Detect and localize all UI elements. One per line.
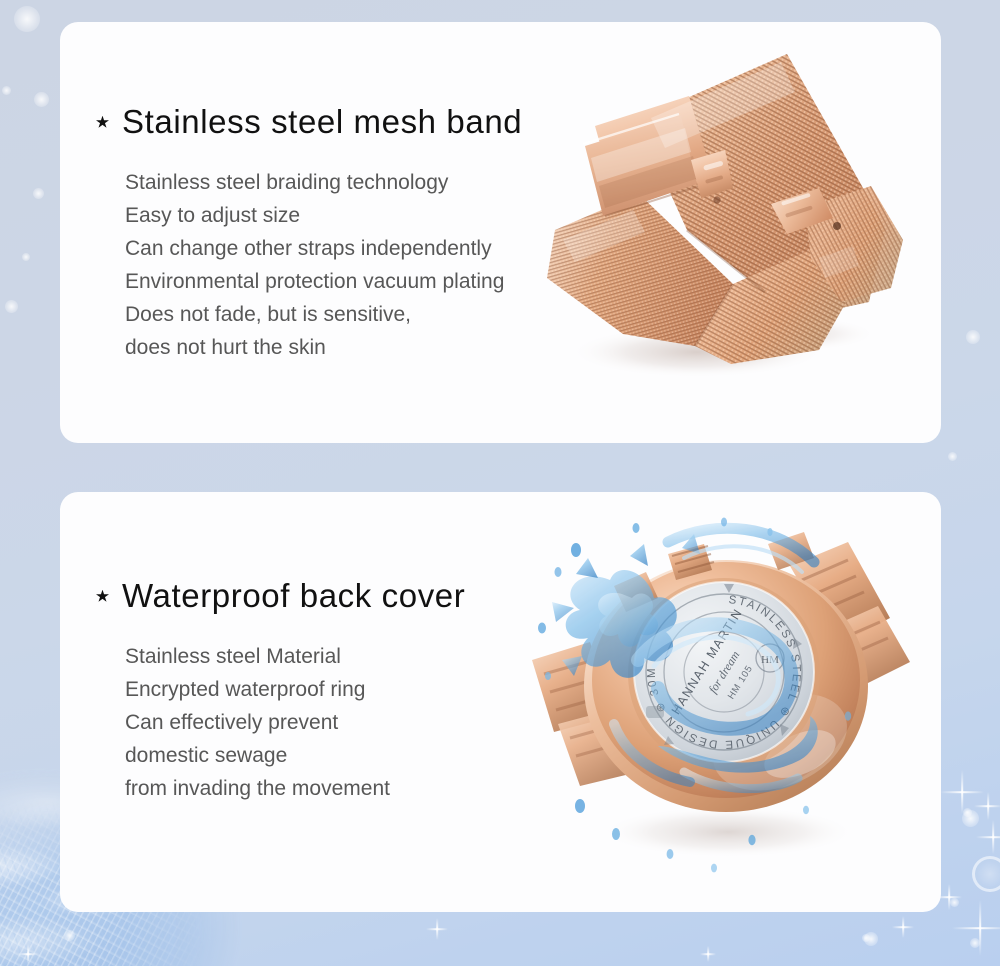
- list-item: does not hurt the skin: [125, 331, 522, 364]
- sparkle-icon: [952, 900, 1000, 956]
- star-icon: [96, 590, 109, 603]
- list-item: domestic sewage: [125, 739, 465, 772]
- star-icon: [96, 116, 109, 129]
- bokeh-dot: [966, 330, 980, 344]
- bokeh-dot: [962, 810, 979, 827]
- bokeh-dot: [5, 300, 18, 313]
- page-title: Stainless steel mesh band: [96, 104, 522, 140]
- bokeh-dot: [950, 898, 959, 907]
- bokeh-dot: [22, 253, 30, 261]
- feature-text-block: Stainless steel mesh band Stainless stee…: [96, 104, 522, 364]
- list-item: Can effectively prevent: [125, 706, 465, 739]
- bokeh-ring: [972, 856, 1000, 892]
- page-title: Waterproof back cover: [96, 578, 465, 614]
- feature-card-waterproof-back-cover: STAINLESS STEEL ⊛ UNIQUE DESIGN ⊛ 30M WA…: [60, 492, 941, 912]
- bokeh-dot: [948, 452, 957, 461]
- list-item: Easy to adjust size: [125, 199, 522, 232]
- bokeh-dot: [963, 808, 972, 817]
- bokeh-dot: [14, 6, 40, 32]
- list-item: Can change other straps independently: [125, 232, 522, 265]
- sparkle-icon: [976, 820, 1000, 854]
- bokeh-dot: [33, 188, 44, 199]
- waterproof-watch-back-cover-photo: STAINLESS STEEL ⊛ UNIQUE DESIGN ⊛ 30M WA…: [518, 510, 918, 895]
- list-item: Stainless steel Material: [125, 640, 465, 673]
- feature-card-mesh-band: Stainless steel mesh band Stainless stee…: [60, 22, 941, 443]
- list-item: Does not fade, but is sensitive,: [125, 298, 522, 331]
- rose-gold-milanese-mesh-band-photo: [519, 34, 919, 434]
- feature-list: Stainless steel braiding technology Easy…: [96, 166, 522, 364]
- list-item: Environmental protection vacuum plating: [125, 265, 522, 298]
- feature-list: Stainless steel Material Encrypted water…: [96, 640, 465, 805]
- list-item: Stainless steel braiding technology: [125, 166, 522, 199]
- bokeh-dot: [34, 92, 49, 107]
- bokeh-dot: [864, 932, 878, 946]
- bokeh-dot: [970, 938, 980, 948]
- heading-label: Stainless steel mesh band: [122, 104, 522, 140]
- product-feature-page: Stainless steel mesh band Stainless stee…: [0, 0, 1000, 966]
- bokeh-dot: [862, 934, 870, 942]
- sparkle-icon: [974, 792, 1000, 820]
- bokeh-dot: [2, 86, 11, 95]
- list-item: from invading the movement: [125, 772, 465, 805]
- sparkle-icon: [700, 946, 716, 962]
- sparkle-icon: [18, 944, 38, 964]
- list-item: Encrypted waterproof ring: [125, 673, 465, 706]
- sparkle-icon: [426, 918, 448, 940]
- heading-label: Waterproof back cover: [122, 578, 465, 614]
- sparkle-icon: [892, 916, 914, 938]
- sparkle-icon: [940, 770, 984, 814]
- feature-text-block: Waterproof back cover Stainless steel Ma…: [96, 578, 465, 805]
- bokeh-dot: [64, 930, 75, 941]
